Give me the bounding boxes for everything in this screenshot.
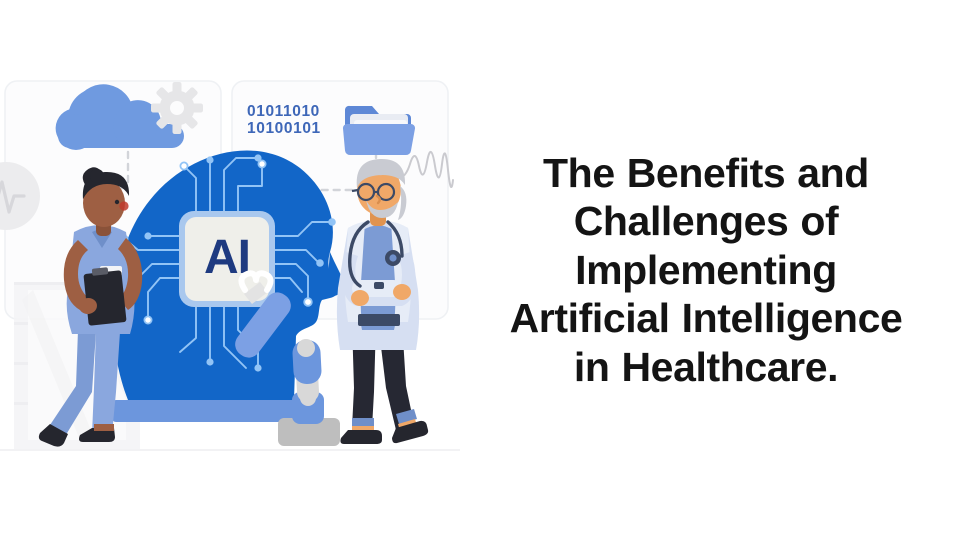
svg-text:10100101: 10100101: [247, 120, 321, 137]
illustration-pane: 01011010 10100101: [0, 0, 460, 540]
svg-text:01011010: 01011010: [247, 103, 320, 120]
head-base-platform: [112, 400, 302, 422]
healthcare-ai-illustration: 01011010 10100101: [0, 0, 460, 540]
ground-line: [0, 449, 460, 451]
page-title: The Benefits and Challenges of Implement…: [496, 149, 916, 391]
gear-icon: [151, 82, 203, 134]
title-pane: The Benefits and Challenges of Implement…: [460, 0, 960, 540]
slide-root: 01011010 10100101: [0, 0, 960, 540]
binary-data-text: 01011010 10100101: [247, 103, 321, 137]
